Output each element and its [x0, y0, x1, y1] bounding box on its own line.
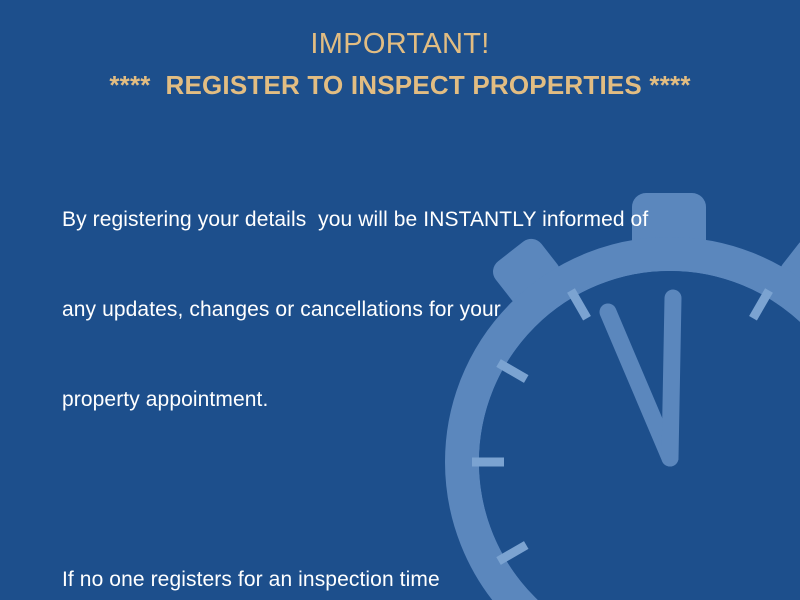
page-subtitle: **** REGISTER TO INSPECT PROPERTIES ****: [0, 71, 800, 101]
paragraph-line: property appointment.: [62, 385, 752, 415]
page-title: IMPORTANT!: [0, 28, 800, 61]
paragraph-no-registration-warning: If no one registers for an inspection ti…: [62, 505, 752, 600]
paragraph-line: If no one registers for an inspection ti…: [62, 565, 752, 595]
paragraph-registering-details: By registering your details you will be …: [62, 145, 752, 475]
body-copy: By registering your details you will be …: [62, 145, 752, 600]
heading-block: IMPORTANT! **** REGISTER TO INSPECT PROP…: [0, 28, 800, 101]
stopwatch-side-button-right: [775, 234, 800, 311]
paragraph-line: any updates, changes or cancellations fo…: [62, 295, 752, 325]
paragraph-line: By registering your details you will be …: [62, 205, 752, 235]
slide-canvas: IMPORTANT! **** REGISTER TO INSPECT PROP…: [0, 0, 800, 600]
